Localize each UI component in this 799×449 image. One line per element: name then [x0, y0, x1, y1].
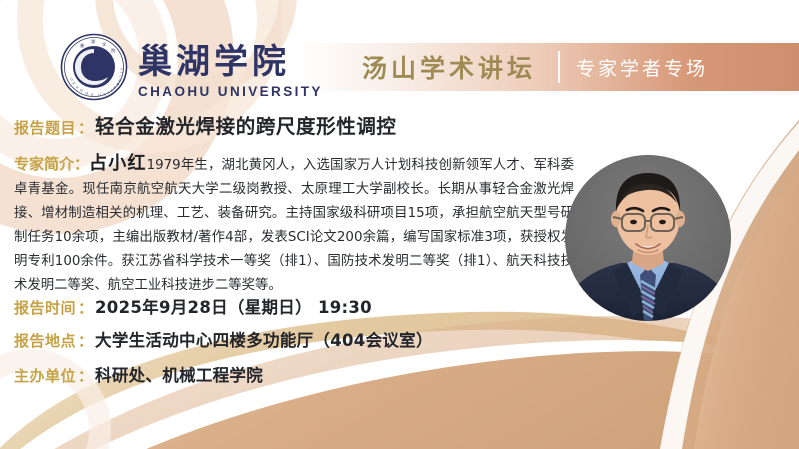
- report-title-label: 报告题目: [14, 117, 76, 138]
- speaker-bio-text: 1979年生，湖北黄冈人，入选国家万人计划科技创新领军人才、军科委卓青基金。现任…: [14, 158, 574, 293]
- svg-text:U: U: [98, 93, 101, 97]
- speaker-bio-label: 专家简介: [14, 152, 74, 176]
- report-host-value: 科研处、机械工程学院: [95, 362, 263, 386]
- university-wordmark: 巢湖学院 CHAOHU UNIVERSITY: [138, 45, 323, 101]
- banner-divider: [558, 51, 560, 83]
- report-place-label: 报告地点: [14, 330, 76, 351]
- svg-text:湖: 湖: [91, 38, 95, 45]
- chaohu-university-seal-icon: 1977 巢 湖 学 院 C H A O H U U N I V: [60, 33, 128, 101]
- report-time-colon: ：: [76, 297, 95, 318]
- report-place-row: 报告地点 ： 大学生活动中心四楼多功能厅（404会议室）: [14, 327, 433, 351]
- banner-subtitle: 专家学者专场: [576, 54, 708, 81]
- university-name-cn: 巢湖学院: [138, 42, 290, 82]
- university-logo-block: 1977 巢 湖 学 院 C H A O H U U N I V: [60, 33, 323, 101]
- svg-text:Y: Y: [119, 68, 123, 71]
- report-title-value: 轻合金激光焊接的跨尺度形性调控: [95, 110, 397, 139]
- report-time-value: 2025年9月28日（星期日） 19:30: [95, 294, 372, 318]
- speaker-bio-paragraph: 专家简介：占小红1979年生，湖北黄冈人，入选国家万人计划科技创新领军人才、军科…: [14, 152, 574, 298]
- speaker-portrait: [565, 155, 731, 321]
- report-time-label: 报告时间: [14, 297, 76, 318]
- svg-text:1977: 1977: [89, 70, 98, 74]
- speaker-name: 占小红: [89, 153, 147, 174]
- report-title-row: 报告题目 ： 轻合金激光焊接的跨尺度形性调控: [14, 110, 397, 139]
- speaker-bio-block: 专家简介：占小红1979年生，湖北黄冈人，入选国家万人计划科技创新领军人才、军科…: [14, 152, 574, 298]
- banner: 汤山学术讲坛 专家学者专场: [300, 43, 799, 91]
- report-time-row: 报告时间 ： 2025年9月28日（星期日） 19:30: [14, 294, 372, 318]
- report-host-colon: ：: [76, 365, 95, 386]
- report-place-colon: ：: [76, 330, 95, 351]
- report-host-label: 主办单位: [14, 365, 76, 386]
- speaker-bio-colon: ：: [74, 152, 89, 176]
- seminar-poster: 汤山学术讲坛 专家学者专场 1977 巢 湖 学 院 C: [0, 0, 799, 449]
- report-host-row: 主办单位 ： 科研处、机械工程学院: [14, 362, 263, 386]
- report-title-colon: ：: [76, 117, 95, 138]
- banner-main-title: 汤山学术讲坛: [362, 49, 536, 85]
- report-place-value: 大学生活动中心四楼多功能厅（404会议室）: [95, 327, 433, 351]
- university-name-en: CHAOHU UNIVERSITY: [138, 84, 323, 99]
- svg-text:学: 学: [102, 41, 106, 47]
